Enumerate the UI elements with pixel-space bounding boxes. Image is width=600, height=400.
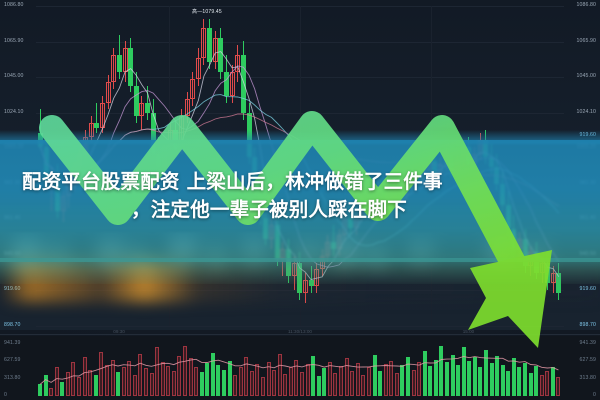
headline-text: 配资平台股票配资 上梁山后，林冲做错了三件事 ，注定他一辈子被别人踩在脚下 xyxy=(22,168,578,223)
headline-line-1: 配资平台股票配资 上梁山后，林冲做错了三件事 xyxy=(22,168,578,196)
banner-image: 1086.801086.801065.901065.901045.001045.… xyxy=(0,0,600,400)
headline-line-2: ，注定他一辈子被别人踩在脚下 xyxy=(22,196,578,224)
